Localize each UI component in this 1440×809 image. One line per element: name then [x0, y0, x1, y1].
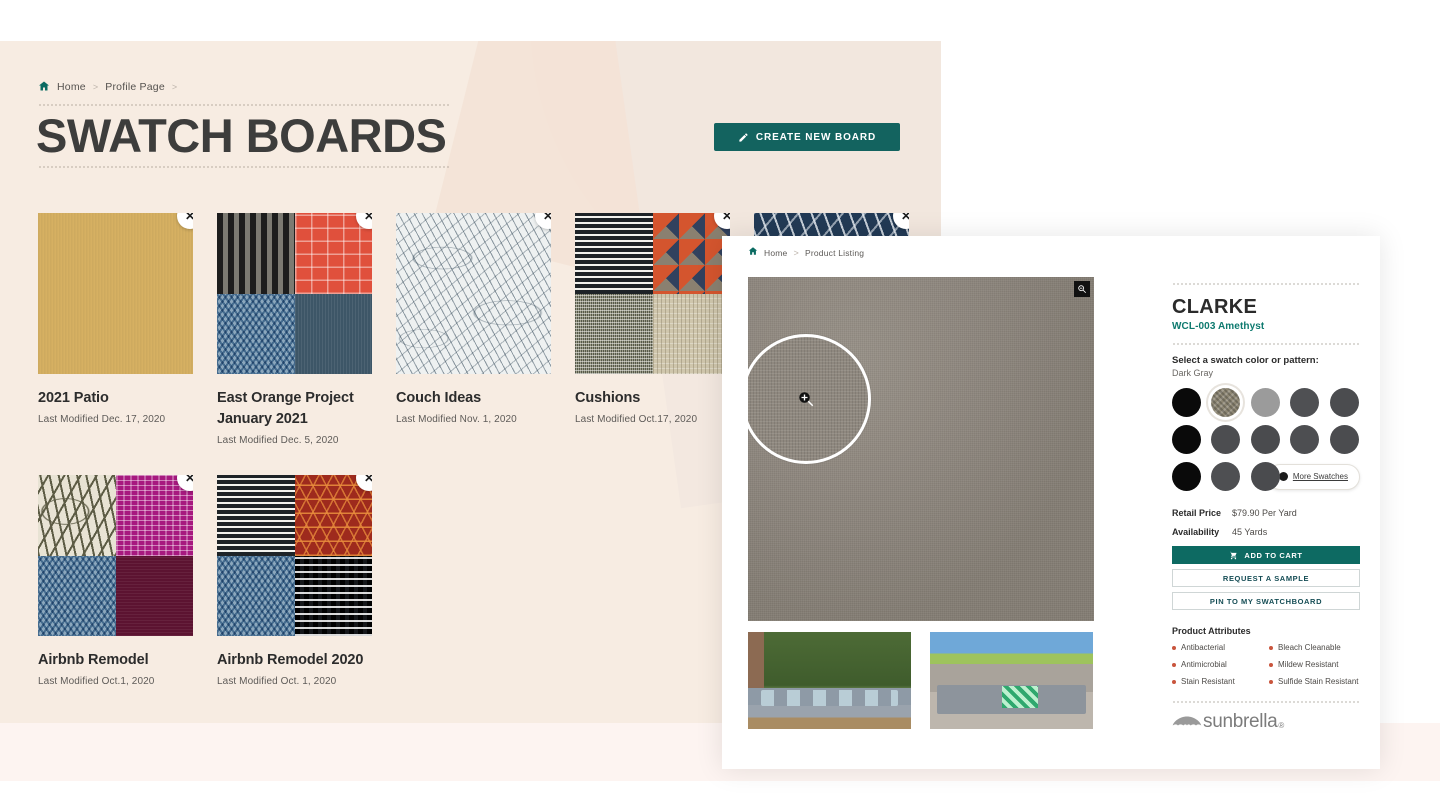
attribute-item: Mildew Resistant	[1269, 660, 1360, 669]
bg-right-panel	[941, 0, 1440, 236]
spec-value: $79.90 Per Yard	[1232, 508, 1297, 518]
board-card[interactable]: ✕ Cushions Last Modified Oct.17, 2020	[575, 213, 730, 446]
product-breadcrumb-item-home[interactable]: Home	[764, 248, 787, 258]
swatch-tile	[653, 294, 731, 375]
breadcrumb-item-home[interactable]: Home	[57, 81, 86, 93]
board-thumbnail[interactable]: ✕	[575, 213, 730, 374]
brand-trademark: ®	[1278, 721, 1284, 730]
swatch-tile	[217, 556, 295, 637]
bullet-icon	[1172, 680, 1176, 684]
request-a-sample-button[interactable]: REQUEST A SAMPLE	[1172, 569, 1360, 587]
board-pattern-quad	[575, 213, 730, 374]
board-pattern-palm-leaves	[396, 213, 551, 374]
title-rule-top	[38, 104, 450, 106]
page-title: SWATCH BOARDS	[36, 110, 446, 162]
board-modified-date: Last Modified Dec. 5, 2020	[217, 435, 372, 446]
swatch-tile	[116, 556, 194, 637]
cart-icon	[1229, 551, 1238, 560]
selected-color-name: Dark Gray	[1172, 368, 1360, 378]
brand-logo: sunbrella ®	[1172, 713, 1360, 730]
board-modified-date: Last Modified Dec. 17, 2020	[38, 414, 193, 425]
product-breadcrumb: Home > Product Listing	[748, 246, 864, 259]
board-title: Cushions	[575, 388, 730, 409]
attribute-item: Antimicrobial	[1172, 660, 1263, 669]
pin-to-swatchboard-button[interactable]: PIN TO MY SWATCHBOARD	[1172, 592, 1360, 610]
swatch-option-2-selected[interactable]	[1211, 388, 1240, 417]
product-thumbnail-2[interactable]	[930, 632, 1093, 729]
swatch-option-1[interactable]	[1172, 388, 1201, 417]
attribute-item: Antibacterial	[1172, 643, 1263, 652]
add-to-cart-label: ADD TO CART	[1244, 551, 1302, 560]
attribute-label: Sulfide Stain Resistant	[1278, 677, 1359, 686]
bullet-icon	[1269, 646, 1273, 650]
spec-value: 45 Yards	[1232, 527, 1267, 537]
info-rule-top	[1172, 283, 1360, 285]
swatch-option-4[interactable]	[1290, 388, 1319, 417]
swatch-tile	[38, 475, 116, 556]
board-title: 2021 Patio	[38, 388, 193, 409]
board-card[interactable]: ✕ 2021 Patio Last Modified Dec. 17, 2020	[38, 213, 193, 446]
swatch-option-12[interactable]	[1211, 462, 1240, 491]
swatch-selector-label: Select a swatch color or pattern:	[1172, 355, 1360, 366]
swatch-tile	[295, 294, 373, 375]
board-modified-date: Last Modified Oct. 1, 2020	[217, 676, 372, 687]
product-name: CLARKE	[1172, 296, 1360, 318]
dot-icon	[1279, 472, 1288, 481]
brand-rule	[1172, 701, 1360, 703]
swatch-color-grid: More Swatches	[1172, 388, 1360, 491]
swatch-option-10[interactable]	[1330, 425, 1359, 454]
umbrella-icon	[1172, 715, 1202, 730]
product-attributes-title: Product Attributes	[1172, 626, 1360, 636]
board-card[interactable]: ✕ Airbnb Remodel Last Modified Oct.1, 20…	[38, 475, 193, 687]
add-to-cart-button[interactable]: ADD TO CART	[1172, 546, 1360, 564]
attribute-label: Stain Resistant	[1181, 677, 1235, 686]
magnifier-loupe[interactable]	[748, 334, 871, 464]
product-thumbnail-1[interactable]	[748, 632, 911, 729]
product-breadcrumb-separator: >	[793, 248, 798, 258]
board-modified-date: Last Modified Oct.1, 2020	[38, 676, 193, 687]
swatch-tile	[217, 294, 295, 375]
breadcrumb: Home > Profile Page >	[38, 80, 177, 94]
bullet-icon	[1172, 646, 1176, 650]
spec-key: Retail Price	[1172, 508, 1232, 518]
board-title: Airbnb Remodel	[38, 650, 193, 671]
product-sku: WCL-003 Amethyst	[1172, 321, 1360, 332]
product-thumbnails	[748, 632, 1096, 729]
attribute-label: Mildew Resistant	[1278, 660, 1338, 669]
attribute-label: Antimicrobial	[1181, 660, 1227, 669]
swatch-tile	[575, 213, 653, 294]
bullet-icon	[1269, 680, 1273, 684]
swatch-tile	[575, 294, 653, 375]
zoom-out-icon[interactable]	[1074, 281, 1090, 297]
spec-key: Availability	[1172, 527, 1232, 537]
product-detail-panel: Home > Product Listing	[722, 236, 1380, 769]
page-root: Home > Profile Page > SWATCH BOARDS CREA…	[0, 0, 1440, 809]
swatch-option-13[interactable]	[1251, 462, 1280, 491]
bullet-icon	[1269, 663, 1273, 667]
board-title: Couch Ideas	[396, 388, 551, 409]
board-card[interactable]: ✕ Couch Ideas Last Modified Nov. 1, 2020	[396, 213, 551, 446]
product-actions: ADD TO CART REQUEST A SAMPLE PIN TO MY S…	[1172, 546, 1360, 610]
attribute-label: Antibacterial	[1181, 643, 1225, 652]
board-title: East Orange Project January 2021	[217, 388, 372, 430]
swatch-option-5[interactable]	[1330, 388, 1359, 417]
swatch-option-9[interactable]	[1290, 425, 1319, 454]
pin-to-swatchboard-label: PIN TO MY SWATCHBOARD	[1210, 597, 1322, 606]
info-rule-mid	[1172, 343, 1360, 345]
product-info-column: CLARKE WCL-003 Amethyst Select a swatch …	[1172, 283, 1360, 730]
breadcrumb-separator-2: >	[172, 82, 177, 92]
zoom-in-icon	[797, 390, 815, 408]
breadcrumb-separator: >	[93, 82, 98, 92]
spec-row-availability: Availability 45 Yards	[1172, 527, 1360, 537]
product-media-column	[748, 277, 1096, 729]
spec-row-retail-price: Retail Price $79.90 Per Yard	[1172, 508, 1360, 518]
bullet-icon	[1172, 663, 1176, 667]
board-thumbnail[interactable]: ✕	[38, 213, 193, 374]
board-pattern-solid-gold	[38, 213, 193, 374]
board-pattern-quad	[38, 475, 193, 636]
board-thumbnail[interactable]: ✕	[38, 475, 193, 636]
swatch-tile	[38, 556, 116, 637]
product-attributes-list: Antibacterial Bleach Cleanable Antimicro…	[1172, 643, 1360, 686]
create-new-board-label: CREATE NEW BOARD	[756, 132, 876, 143]
swatch-option-8[interactable]	[1251, 425, 1280, 454]
attribute-item: Stain Resistant	[1172, 677, 1263, 686]
attribute-label: Bleach Cleanable	[1278, 643, 1341, 652]
board-title: Airbnb Remodel 2020	[217, 650, 372, 671]
title-rule-bottom	[38, 166, 450, 168]
swatch-option-11[interactable]	[1172, 462, 1201, 491]
swatch-option-3[interactable]	[1251, 388, 1280, 417]
create-new-board-button[interactable]: CREATE NEW BOARD	[714, 123, 900, 151]
board-pattern-quad	[217, 213, 372, 374]
board-card[interactable]: ✕ East Orange Project January 2021 Last …	[217, 213, 372, 446]
board-pattern-quad	[217, 475, 372, 636]
more-swatches-button[interactable]: More Swatches	[1267, 464, 1360, 490]
board-thumbnail[interactable]: ✕	[396, 213, 551, 374]
product-hero-image[interactable]	[748, 277, 1094, 621]
swatch-tile	[217, 213, 295, 294]
board-thumbnail[interactable]: ✕	[217, 213, 372, 374]
swatch-option-6[interactable]	[1172, 425, 1201, 454]
board-card[interactable]: ✕ Airbnb Remodel 2020 Last Modified Oct.…	[217, 475, 372, 687]
swatch-option-7[interactable]	[1211, 425, 1240, 454]
pencil-icon	[738, 132, 749, 143]
more-swatches-label: More Swatches	[1293, 472, 1348, 481]
product-breadcrumb-item-product-listing[interactable]: Product Listing	[805, 248, 864, 258]
swatch-tile	[295, 556, 373, 637]
board-thumbnail[interactable]: ✕	[217, 475, 372, 636]
board-modified-date: Last Modified Oct.17, 2020	[575, 414, 730, 425]
attribute-item: Bleach Cleanable	[1269, 643, 1360, 652]
product-specs: Retail Price $79.90 Per Yard Availabilit…	[1172, 508, 1360, 537]
request-a-sample-label: REQUEST A SAMPLE	[1223, 574, 1309, 583]
home-icon[interactable]	[748, 246, 758, 259]
swatch-tile	[217, 475, 295, 556]
breadcrumb-item-profile-page[interactable]: Profile Page	[105, 81, 165, 93]
board-modified-date: Last Modified Nov. 1, 2020	[396, 414, 551, 425]
home-icon[interactable]	[38, 80, 50, 94]
attribute-item: Sulfide Stain Resistant	[1269, 677, 1360, 686]
brand-name: sunbrella	[1203, 713, 1277, 730]
